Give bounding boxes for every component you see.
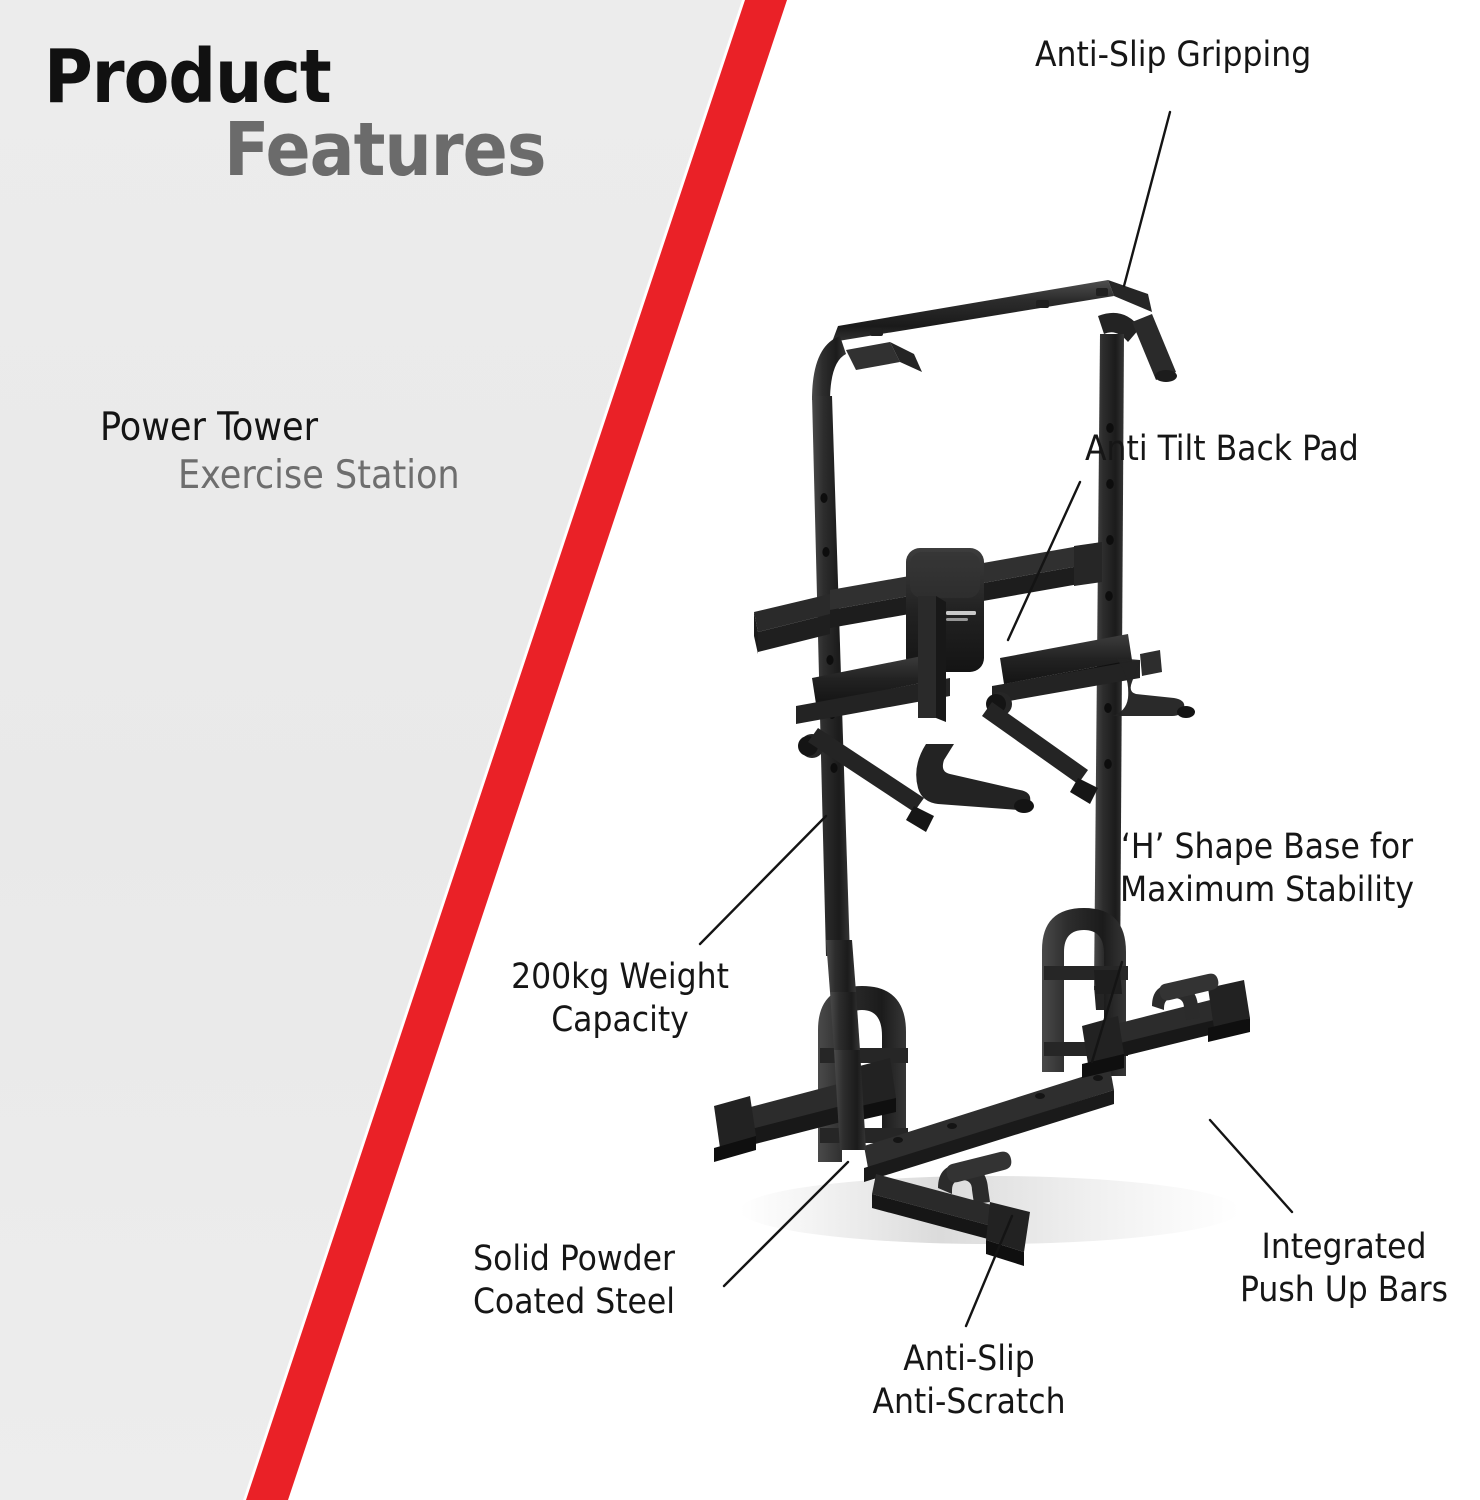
dip-handle-right — [1112, 650, 1195, 718]
title-line-product: Product — [44, 42, 545, 113]
callout-label-anti-tilt-back-pad: Anti Tilt Back Pad — [1085, 428, 1359, 471]
callout-label-powder-coated-steel: Solid Powder Coated Steel — [432, 1238, 716, 1324]
subtitle-line-exercise-station: Exercise Station — [178, 452, 460, 500]
page-title: Product Features — [44, 42, 545, 189]
callout-label-weight-capacity: 200kg Weight Capacity — [468, 956, 772, 1042]
dip-handle-left — [916, 744, 1034, 813]
infographic-canvas: Product Features Power Tower Exercise St… — [0, 0, 1480, 1500]
product-illustration — [700, 250, 1260, 1320]
subtitle-line-power-tower: Power Tower — [100, 404, 460, 452]
callout-label-anti-slip-anti-scratch: Anti-Slip Anti-Scratch — [838, 1338, 1100, 1424]
product-subtitle: Power Tower Exercise Station — [100, 404, 460, 499]
title-line-features: Features — [224, 113, 545, 188]
callout-label-h-shape-base: ‘H’ Shape Base for Maximum Stability — [1066, 826, 1468, 912]
callout-label-anti-slip-gripping: Anti-Slip Gripping — [1035, 34, 1311, 77]
callout-label-integrated-push-up-bars: Integrated Push Up Bars — [1218, 1226, 1470, 1312]
